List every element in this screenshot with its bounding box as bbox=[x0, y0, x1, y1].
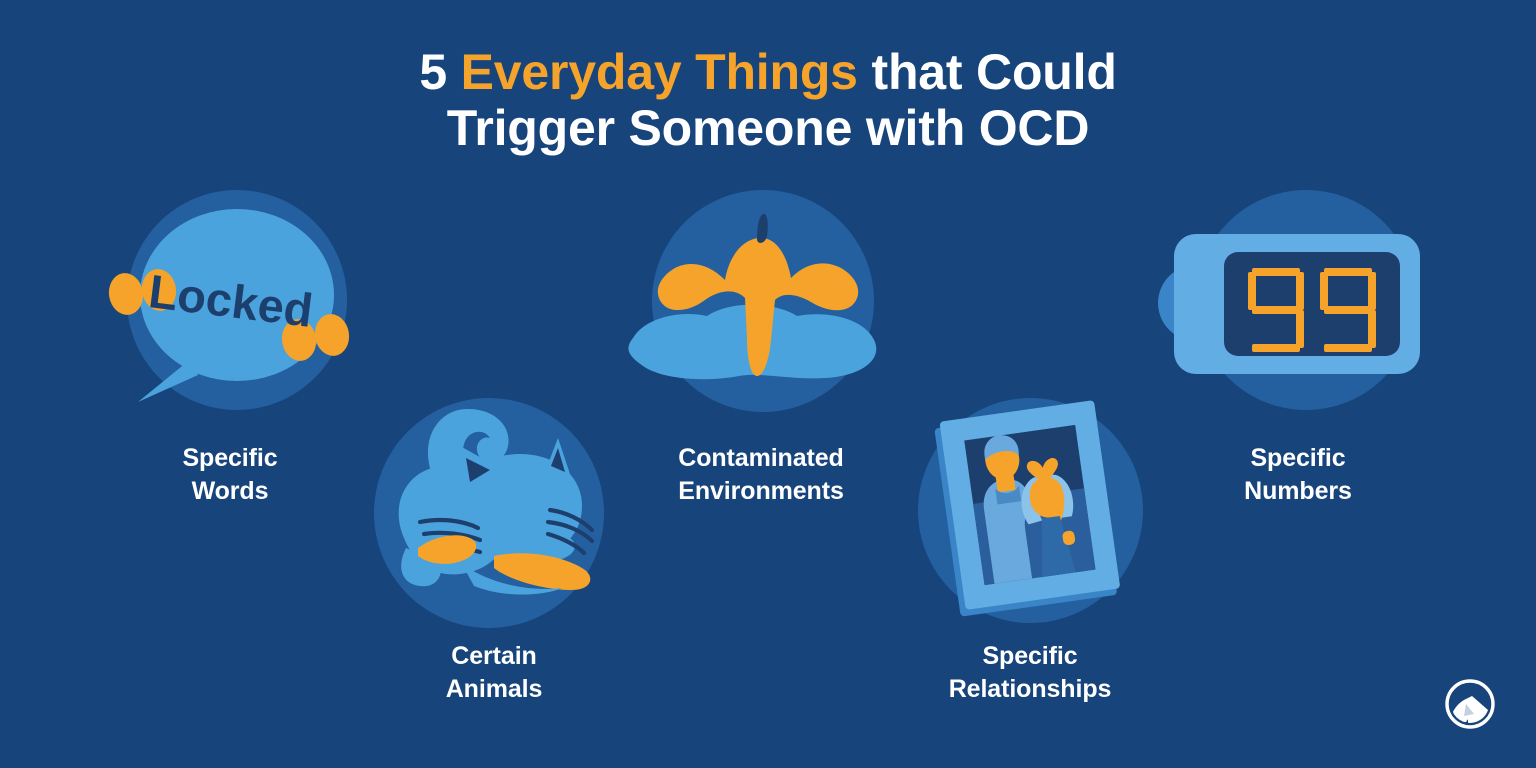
caption-line-2: Numbers bbox=[1148, 475, 1448, 508]
caption-line-2: Words bbox=[80, 475, 380, 508]
mountain-circle-logo bbox=[1442, 676, 1498, 732]
caption-specific-words: Specific Words bbox=[80, 442, 380, 508]
caption-specific-relationships: Specific Relationships bbox=[880, 640, 1180, 706]
page-title: 5 Everyday Things that Could Trigger Som… bbox=[0, 44, 1536, 156]
infographic-canvas: 5 Everyday Things that Could Trigger Som… bbox=[0, 0, 1536, 768]
caption-line-2: Environments bbox=[611, 475, 911, 508]
caption-specific-numbers: Specific Numbers bbox=[1148, 442, 1448, 508]
title-line-2: Trigger Someone with OCD bbox=[0, 100, 1536, 156]
caption-line-1: Certain bbox=[344, 640, 644, 673]
caption-certain-animals: Certain Animals bbox=[344, 640, 644, 706]
caption-line-1: Contaminated bbox=[611, 442, 911, 475]
title-suffix: that Could bbox=[858, 44, 1117, 100]
icon-disc-backdrop bbox=[127, 190, 347, 410]
title-prefix: 5 bbox=[419, 44, 460, 100]
logo-mountains bbox=[1450, 696, 1490, 724]
caption-line-2: Relationships bbox=[880, 673, 1180, 706]
caption-line-1: Specific bbox=[80, 442, 380, 475]
icon-disc-backdrop bbox=[1196, 190, 1416, 410]
title-accent: Everyday Things bbox=[461, 44, 858, 100]
icon-disc-backdrop bbox=[918, 398, 1143, 623]
title-line-1: 5 Everyday Things that Could bbox=[0, 44, 1536, 100]
caption-contaminated-environments: Contaminated Environments bbox=[611, 442, 911, 508]
caption-line-1: Specific bbox=[1148, 442, 1448, 475]
icon-disc-backdrop bbox=[652, 190, 874, 412]
icon-disc-backdrop bbox=[374, 398, 604, 628]
caption-line-1: Specific bbox=[880, 640, 1180, 673]
caption-line-2: Animals bbox=[344, 673, 644, 706]
